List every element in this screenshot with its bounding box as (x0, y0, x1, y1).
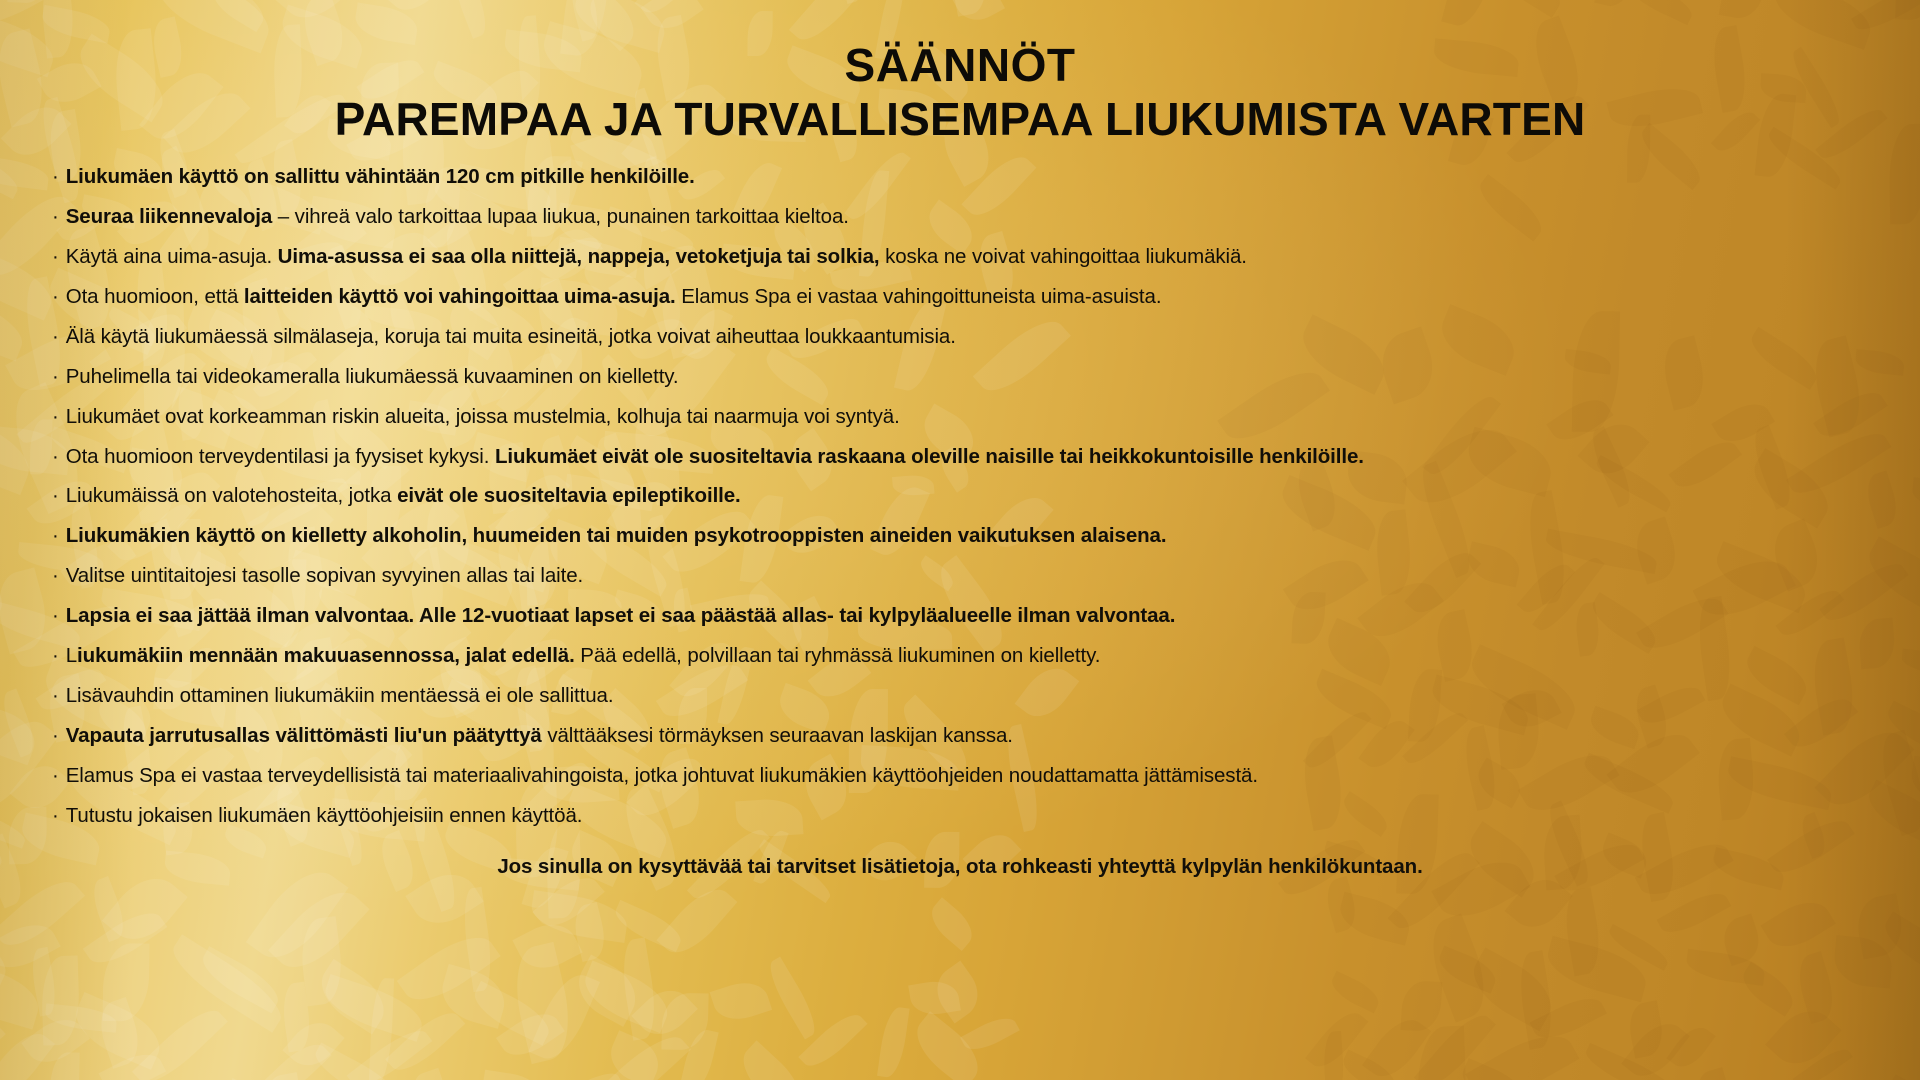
rule-text: Liukumäissä on valotehosteita, jotka (66, 484, 397, 507)
rule-text-bold: Lapsia ei saa jättää ilman valvontaa. Al… (66, 604, 1176, 627)
rule-item: ·Liukumäkiin mennään makuuasennossa, jal… (52, 646, 1868, 686)
bullet-glyph: · (52, 165, 59, 188)
rule-item: ·Ota huomioon terveydentilasi ja fyysise… (52, 447, 1868, 487)
bullet-glyph: · (52, 405, 59, 428)
page-subtitle: PAREMPAA JA TURVALLISEMPAA LIUKUMISTA VA… (0, 94, 1920, 146)
rule-item: ·Käytä aina uima-asuja. Uima-asussa ei s… (52, 247, 1868, 287)
rule-text: välttääksesi törmäyksen seuraavan laskij… (542, 724, 1013, 747)
rule-text: Puhelimella tai videokameralla liukumäes… (66, 365, 679, 388)
page-title: SÄÄNNÖT (0, 42, 1920, 90)
rule-text: Ota huomioon, että (66, 285, 244, 308)
bullet-glyph: · (52, 205, 59, 228)
rule-item: ·Liukumäet ovat korkeamman riskin alueit… (52, 407, 1868, 447)
rule-text-bold: laitteiden käyttö voi vahingoittaa uima-… (244, 285, 676, 308)
rule-item: ·Lapsia ei saa jättää ilman valvontaa. A… (52, 606, 1868, 646)
rule-text-bold: Liukumäen käyttö on sallittu vähintään 1… (66, 165, 695, 188)
rule-item: ·Lisävauhdin ottaminen liukumäkiin mentä… (52, 686, 1868, 726)
rule-item: ·Ota huomioon, että laitteiden käyttö vo… (52, 287, 1868, 327)
bullet-glyph: · (52, 764, 59, 787)
rule-text-bold: Vapauta jarrutusallas välittömästi liu'u… (66, 724, 542, 747)
rule-item: ·Tutustu jokaisen liukumäen käyttöohjeis… (52, 806, 1868, 846)
rule-text: Käytä aina uima-asuja. (66, 245, 278, 268)
bullet-glyph: · (52, 804, 59, 827)
bullet-glyph: · (52, 604, 59, 627)
poster-content: SÄÄNNÖT PAREMPAA JA TURVALLISEMPAA LIUKU… (0, 0, 1920, 1080)
bullet-glyph: · (52, 245, 59, 268)
rule-item: ·Liukumäkien käyttö on kielletty alkohol… (52, 526, 1868, 566)
rule-text: L (66, 644, 77, 667)
rule-item: ·Vapauta jarrutusallas välittömästi liu'… (52, 726, 1868, 766)
rule-text: Valitse uintitaitojesi tasolle sopivan s… (66, 564, 583, 587)
rule-text: Elamus Spa ei vastaa terveydellisistä ta… (66, 764, 1258, 787)
footer-note: Jos sinulla on kysyttävää tai tarvitset … (0, 855, 1920, 879)
bullet-glyph: · (52, 445, 59, 468)
rule-text: koska ne voivat vahingoittaa liukumäkiä. (880, 245, 1247, 268)
title-block: SÄÄNNÖT PAREMPAA JA TURVALLISEMPAA LIUKU… (0, 0, 1920, 145)
bullet-glyph: · (52, 564, 59, 587)
bullet-glyph: · (52, 644, 59, 667)
rule-item: ·Liukumäen käyttö on sallittu vähintään … (52, 167, 1868, 207)
bullet-glyph: · (52, 724, 59, 747)
bullet-glyph: · (52, 524, 59, 547)
rule-item: ·Liukumäissä on valotehosteita, jotka ei… (52, 486, 1868, 526)
rule-text-bold: iukumäkiin mennään makuuasennossa, jalat… (77, 644, 575, 667)
rule-text-bold: Liukumäkien käyttö on kielletty alkoholi… (66, 524, 1167, 547)
bullet-glyph: · (52, 285, 59, 308)
bullet-glyph: · (52, 325, 59, 348)
rule-item: ·Puhelimella tai videokameralla liukumäe… (52, 367, 1868, 407)
rule-text-bold: Liukumäet eivät ole suositeltavia raskaa… (495, 445, 1364, 468)
rule-item: ·Valitse uintitaitojesi tasolle sopivan … (52, 566, 1868, 606)
bullet-glyph: · (52, 365, 59, 388)
rule-item: ·Älä käytä liukumäessä silmälaseja, koru… (52, 327, 1868, 367)
rule-text: Lisävauhdin ottaminen liukumäkiin mentäe… (66, 684, 614, 707)
rule-item: ·Elamus Spa ei vastaa terveydellisistä t… (52, 766, 1868, 806)
rules-poster: SÄÄNNÖT PAREMPAA JA TURVALLISEMPAA LIUKU… (0, 0, 1920, 1080)
rule-text-bold: Uima-asussa ei saa olla niittejä, nappej… (278, 245, 880, 268)
rule-text-bold: Seuraa liikennevaloja (66, 205, 272, 228)
rule-text-bold: eivät ole suositeltavia epileptikoille. (397, 484, 741, 507)
bullet-glyph: · (52, 484, 59, 507)
rules-list: ·Liukumäen käyttö on sallittu vähintään … (0, 167, 1920, 845)
rule-text: Pää edellä, polvillaan tai ryhmässä liuk… (575, 644, 1101, 667)
rule-text: – vihreä valo tarkoittaa lupaa liukua, p… (272, 205, 849, 228)
bullet-glyph: · (52, 684, 59, 707)
rule-text: Ota huomioon terveydentilasi ja fyysiset… (66, 445, 495, 468)
rule-text: Tutustu jokaisen liukumäen käyttöohjeisi… (66, 804, 583, 827)
rule-item: ·Seuraa liikennevaloja – vihreä valo tar… (52, 207, 1868, 247)
rule-text: Elamus Spa ei vastaa vahingoittuneista u… (676, 285, 1162, 308)
rule-text: Älä käytä liukumäessä silmälaseja, koruj… (66, 325, 956, 348)
rule-text: Liukumäet ovat korkeamman riskin alueita… (66, 405, 900, 428)
